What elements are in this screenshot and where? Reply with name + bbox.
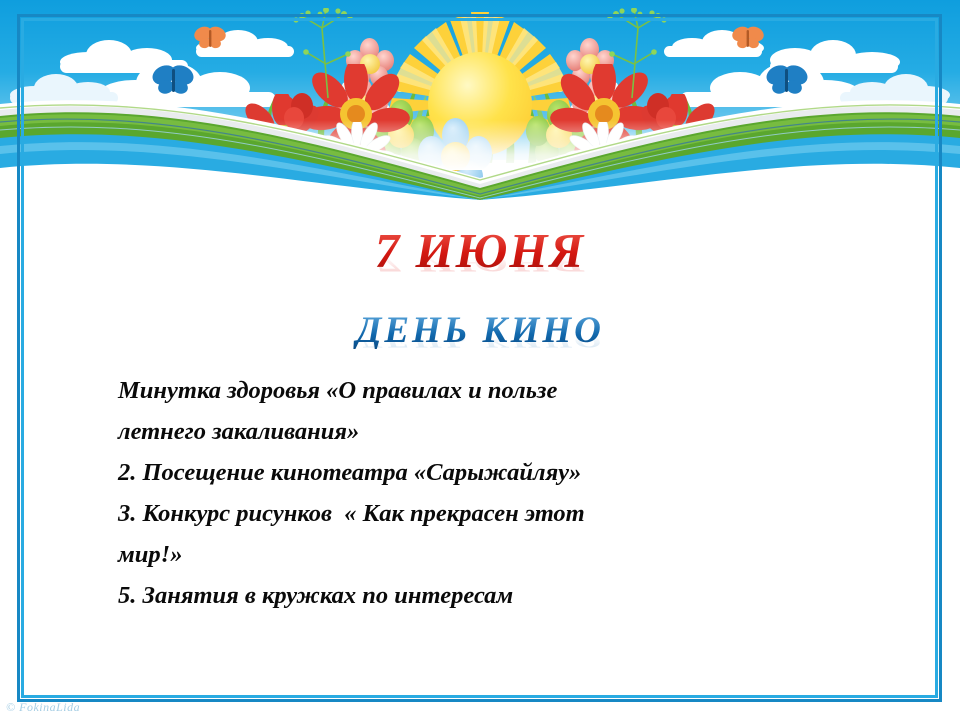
list-item: мир!» xyxy=(118,534,878,575)
list-item: летнего закаливания» xyxy=(118,411,878,452)
list-item: 5. Занятия в кружках по интересам xyxy=(118,575,878,616)
list-item: 3. Конкурс рисунков « Как прекрасен этот xyxy=(118,493,878,534)
slide-canvas: 7 ИЮНЯ 7 ИЮНЯ ДЕНЬ КИНО ДЕНЬ КИНО Минутк… xyxy=(0,0,960,720)
page-subtitle-blue: ДЕНЬ КИНО xyxy=(0,312,960,349)
page-title-red: 7 ИЮНЯ xyxy=(0,226,960,275)
agenda-list: Минутка здоровья «О правилах и пользе ле… xyxy=(118,370,878,616)
copyright-watermark: © FokinaLida xyxy=(6,700,80,715)
list-item: Минутка здоровья «О правилах и пользе xyxy=(118,370,878,411)
list-item: 2. Посещение кинотеатра «Сарыжайляу» xyxy=(118,452,878,493)
